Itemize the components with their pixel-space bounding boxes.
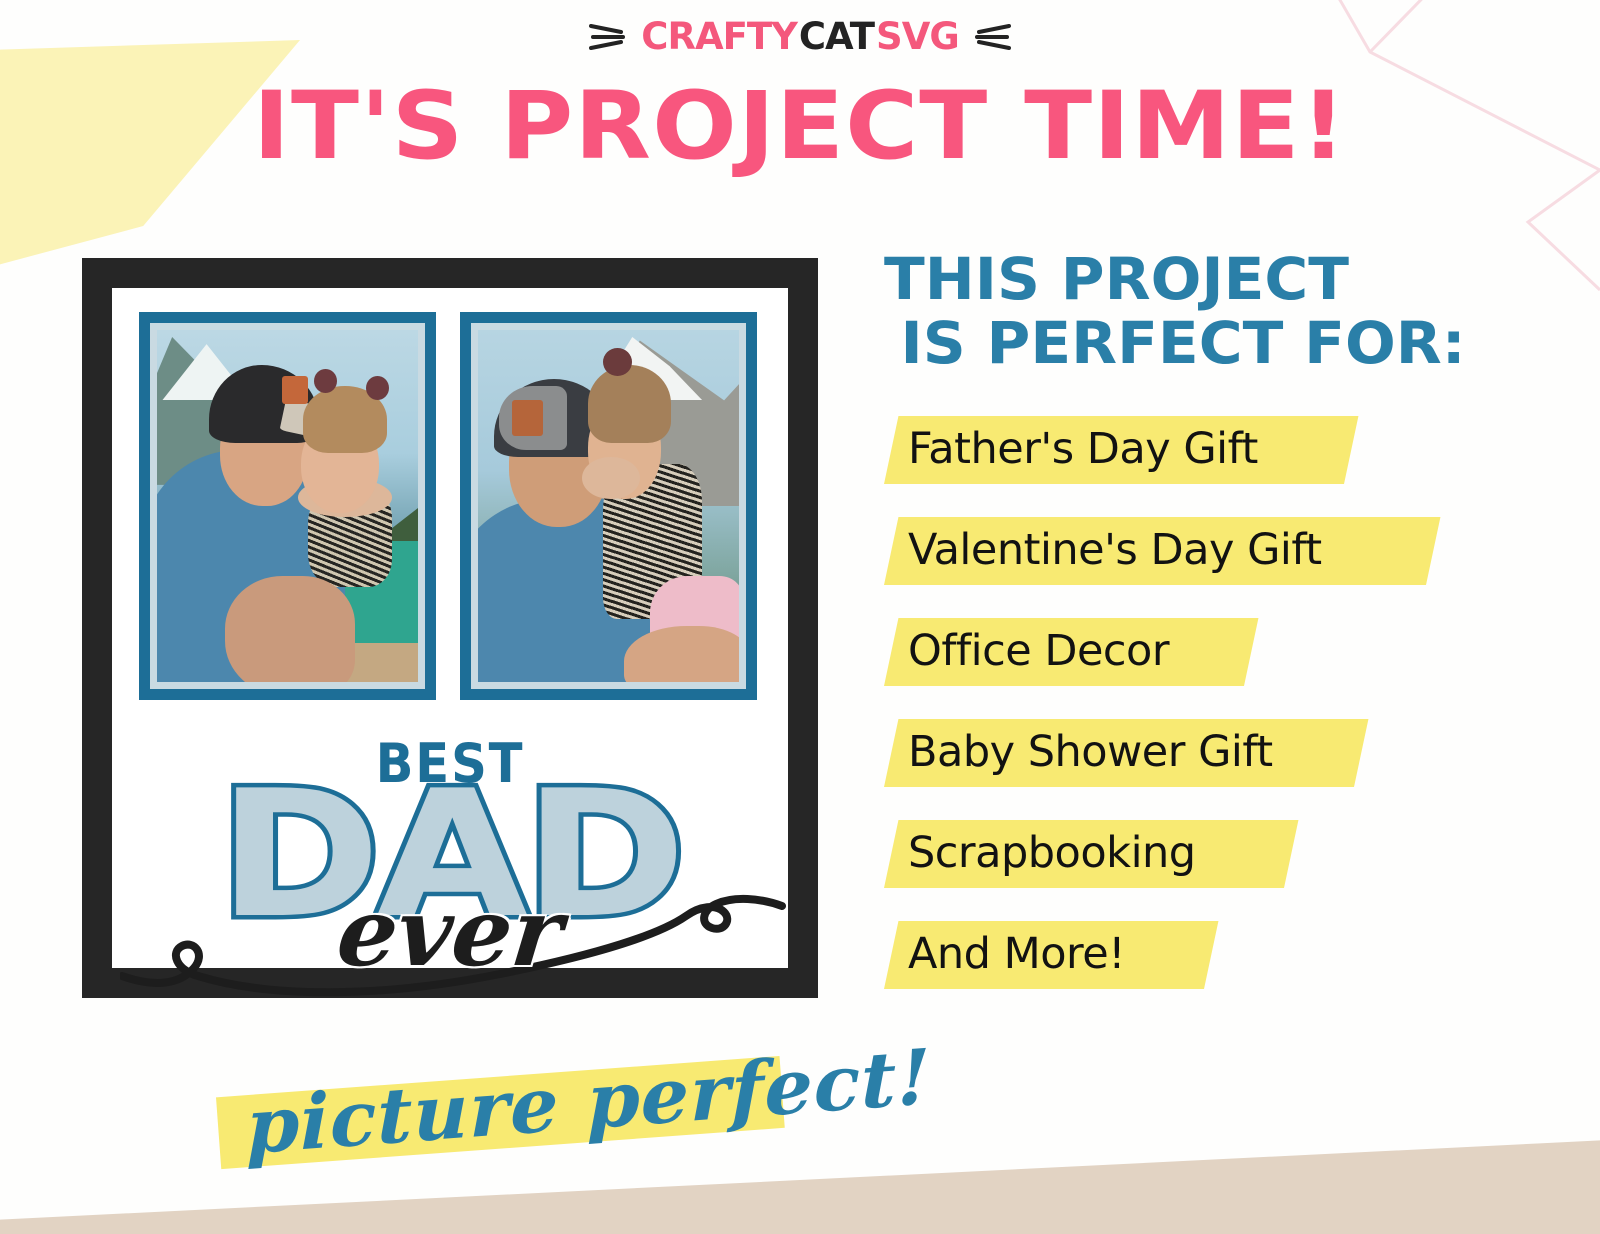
list-item[interactable]: Baby Shower Gift <box>884 719 1544 787</box>
list-item[interactable]: Valentine's Day Gift <box>884 517 1544 585</box>
uses-heading-line2: IS PERFECT FOR: <box>900 312 1563 376</box>
logo-text-crafty: CRAFTY <box>641 18 797 55</box>
list-item-label: And More! <box>884 933 1125 976</box>
list-item-label: Office Decor <box>884 630 1169 673</box>
list-item[interactable]: And More! <box>884 921 1544 989</box>
uses-heading-line1: THIS PROJECT <box>884 245 1349 313</box>
uses-list: Father's Day Gift Valentine's Day Gift O… <box>884 416 1544 989</box>
list-item-label: Father's Day Gift <box>884 428 1258 471</box>
logo-text-svg: SVG <box>876 18 959 55</box>
uses-heading: THIS PROJECT IS PERFECT FOR: <box>884 248 1564 376</box>
whisker-right-icon <box>973 20 1011 54</box>
list-item-label: Valentine's Day Gift <box>884 529 1322 572</box>
photo-frame-1 <box>139 312 436 700</box>
brand-logo: CRAFTY CAT SVG <box>0 18 1600 55</box>
frame-mat: BEST DAD ever <box>112 288 788 968</box>
lettering-ever: ever <box>107 886 793 980</box>
logo-text-cat: CAT <box>799 18 874 55</box>
photo-1 <box>157 330 418 682</box>
photo-frame-2 <box>460 312 757 700</box>
list-item-label: Scrapbooking <box>884 832 1196 875</box>
framed-project-preview: BEST DAD ever <box>82 258 818 998</box>
photo-inner-mat-2 <box>471 323 746 689</box>
uses-panel: THIS PROJECT IS PERFECT FOR: Father's Da… <box>884 248 1544 1022</box>
list-item[interactable]: Office Decor <box>884 618 1544 686</box>
photo-2 <box>478 330 739 682</box>
page-title: IT'S PROJECT TIME! <box>0 80 1600 174</box>
photo-row <box>139 312 757 700</box>
whisker-left-icon <box>589 20 627 54</box>
list-item[interactable]: Scrapbooking <box>884 820 1544 888</box>
tagline-text: picture perfect! <box>246 1029 931 1175</box>
tagline: picture perfect! <box>215 1045 800 1183</box>
photo-inner-mat-1 <box>150 323 425 689</box>
list-item-label: Baby Shower Gift <box>884 731 1273 774</box>
poster-canvas: CRAFTY CAT SVG IT'S PROJECT TIME! <box>0 0 1600 1234</box>
list-item[interactable]: Father's Day Gift <box>884 416 1544 484</box>
